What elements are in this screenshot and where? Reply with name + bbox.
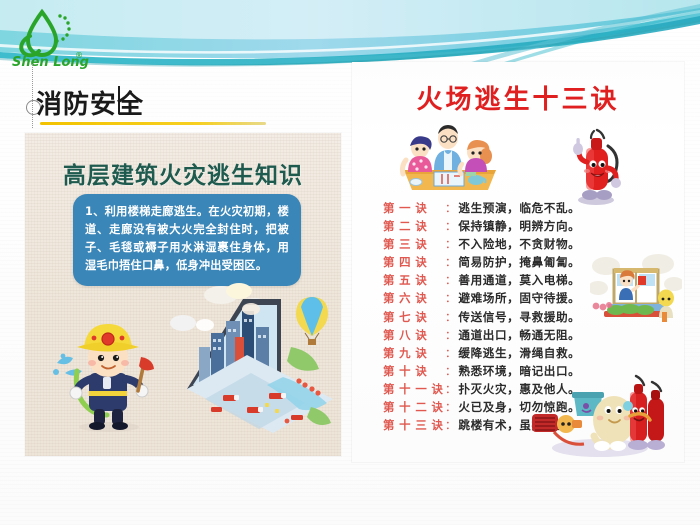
verse-label: 第 十 一 诀: [383, 381, 445, 397]
verse-label: 第 七 诀: [383, 309, 445, 325]
cartoon-firefighter-illustration: [53, 311, 165, 433]
verse-row: 第 八 诀 ： 通道出口，畅通无阻。: [383, 327, 613, 344]
page-title: 消防安全: [36, 84, 144, 121]
logo-trademark-icon: ®: [75, 51, 83, 60]
escape-tip-text: 1、利用楼梯走廊逃生。在火灾初期，楼道、走廊没有被大火完全封住时，把被子、毛毯或…: [85, 203, 289, 276]
verse-text: 简易防护，掩鼻匍匐。: [458, 254, 580, 270]
verse-colon: ：: [445, 218, 458, 234]
family-escape-plan-illustration: [390, 124, 510, 196]
verse-colon: ：: [445, 363, 458, 379]
fire-extinguisher-mascot-icon: [564, 128, 626, 206]
verse-colon: ：: [445, 290, 458, 306]
verse-label: 第 六 诀: [383, 290, 445, 306]
verse-colon: ：: [445, 272, 458, 288]
left-panel-heading: 高层建筑火灾逃生知识: [25, 156, 341, 190]
verse-text: 通道出口，畅通无阻。: [458, 327, 580, 343]
verse-text: 不入险地，不贪财物。: [458, 236, 580, 252]
verse-row: 第 九 诀 ： 缓降逃生，滑绳自救。: [383, 345, 613, 362]
verse-colon: ：: [445, 417, 458, 433]
verse-label: 第 一 诀: [383, 200, 445, 216]
verse-label: 第 十 三 诀: [383, 417, 445, 433]
verse-colon: ：: [445, 236, 458, 252]
verse-row: 第 二 诀 ： 保持镇静，明辨方向。: [383, 218, 613, 235]
isometric-city-illustration: [165, 281, 343, 433]
verse-colon: ：: [445, 345, 458, 361]
escape-tip-callout: 1、利用楼梯走廊逃生。在火灾初期，楼道、走廊没有被大火完全封住时，把被子、毛毯或…: [73, 194, 301, 286]
verse-colon: ：: [445, 327, 458, 343]
verse-row: 第 四 诀 ： 简易防护，掩鼻匍匐。: [383, 254, 613, 271]
verse-row: 第 六 诀 ： 避难场所，固守待援。: [383, 290, 613, 307]
verse-text: 缓降逃生，滑绳自救。: [458, 345, 580, 361]
extinguisher-characters-illustration: [530, 362, 668, 460]
shen-long-logo: Shen Long ®: [8, 6, 94, 72]
verse-text: 避难场所，固守待援。: [458, 290, 580, 306]
verse-colon: ：: [445, 399, 458, 415]
verse-text: 保持镇静，明辨方向。: [458, 218, 580, 234]
title-dotted-guide: [32, 64, 33, 128]
verse-text: 传送信号，寻救援助。: [458, 309, 580, 325]
verse-colon: ：: [445, 381, 458, 397]
slide-title-block: 消防安全: [22, 82, 282, 132]
verse-text: 善用通道，莫入电梯。: [458, 272, 580, 288]
text-cursor-caret: [118, 86, 120, 114]
verse-label: 第 十 诀: [383, 363, 445, 379]
title-underline-rule: [40, 122, 266, 125]
verse-label: 第 四 诀: [383, 254, 445, 270]
verse-label: 第 九 诀: [383, 345, 445, 361]
verse-row: 第 三 诀 ： 不入险地，不贪财物。: [383, 236, 613, 253]
verse-colon: ：: [445, 254, 458, 270]
verse-label: 第 八 诀: [383, 327, 445, 343]
verse-colon: ：: [445, 309, 458, 325]
thirteen-tips-title: 火场逃生十三诀: [352, 79, 684, 116]
verse-label: 第 二 诀: [383, 218, 445, 234]
verse-text: 逃生预演，临危不乱。: [458, 200, 580, 216]
verse-row: 第 五 诀 ： 善用通道，莫入电梯。: [383, 272, 613, 289]
slide-canvas: Shen Long ® 消防安全 高层建筑火灾逃生知识 1、利用楼梯走廊逃生。在…: [0, 0, 700, 525]
right-content-panel: 火场逃生十三诀: [352, 62, 684, 462]
verse-row: 第 一 诀 ： 逃生预演，临危不乱。: [383, 200, 613, 217]
verse-colon: ：: [445, 200, 458, 216]
verse-label: 第 三 诀: [383, 236, 445, 252]
left-content-panel: 高层建筑火灾逃生知识 1、利用楼梯走廊逃生。在火灾初期，楼道、走廊没有被大火完全…: [25, 133, 341, 456]
verse-label: 第 十 二 诀: [383, 399, 445, 415]
verse-row: 第 七 诀 ： 传送信号，寻救援助。: [383, 309, 613, 326]
verse-label: 第 五 诀: [383, 272, 445, 288]
